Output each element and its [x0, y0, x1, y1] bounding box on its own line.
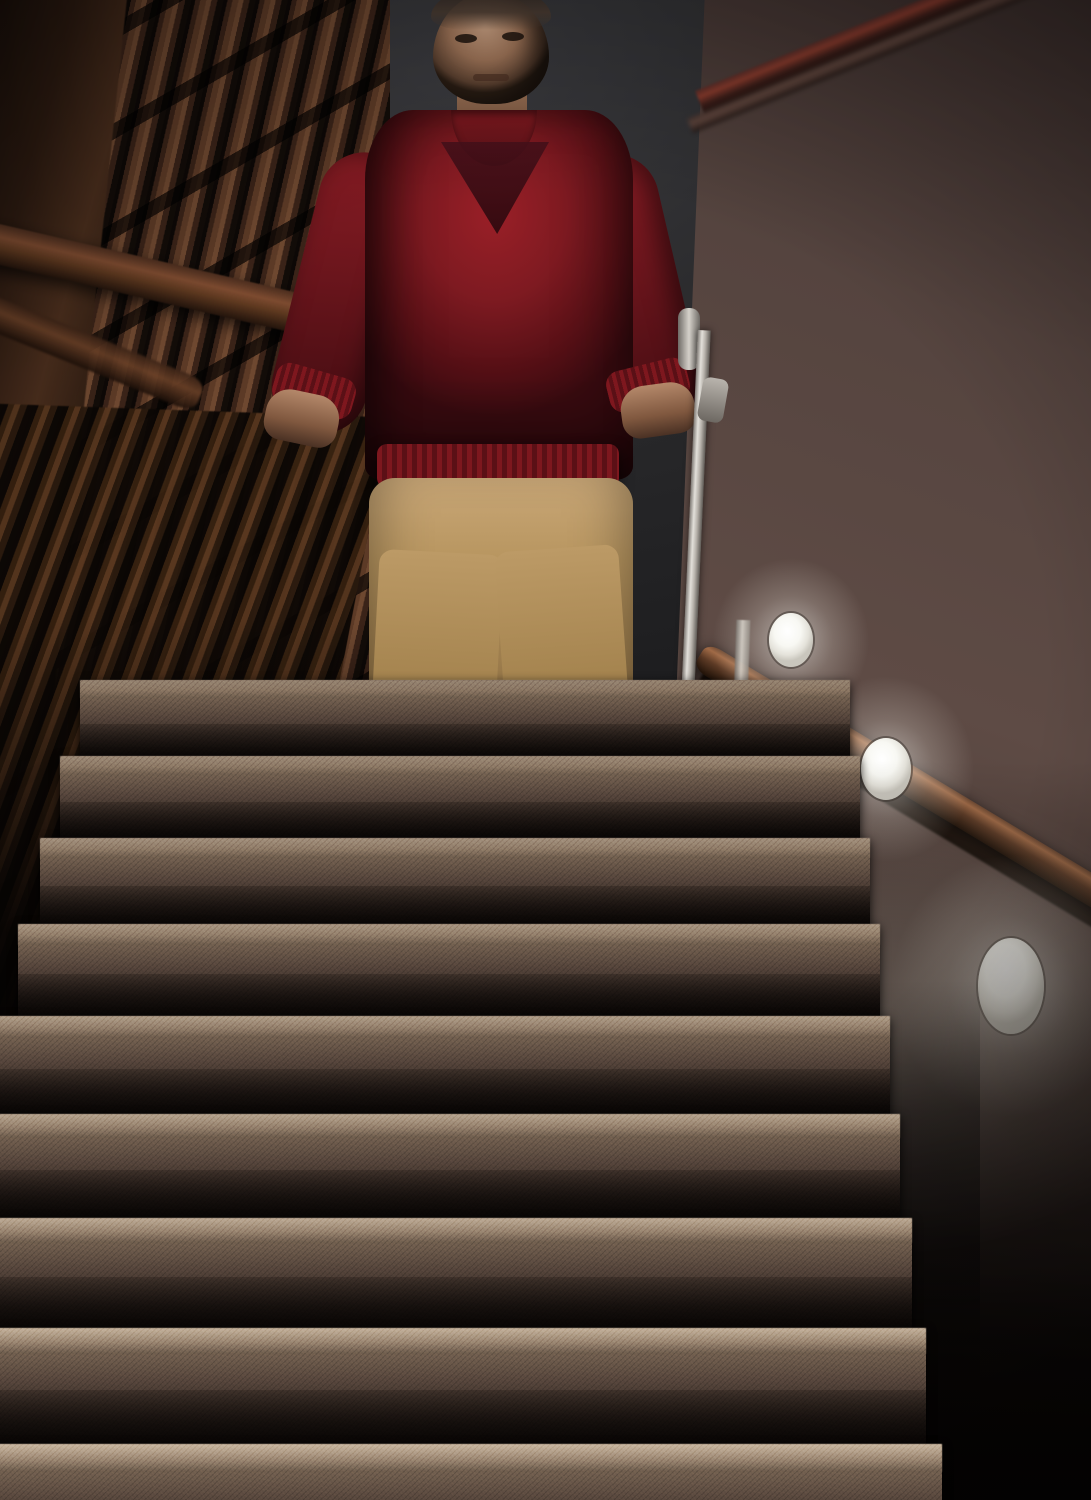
- step-nosing: [40, 838, 870, 858]
- step-riser: [18, 974, 880, 1020]
- mouth: [473, 74, 509, 81]
- step-riser: [0, 1069, 890, 1118]
- step-nosing: [80, 680, 850, 698]
- step-nosing: [0, 1016, 890, 1038]
- light-lens: [769, 613, 813, 667]
- step-nosing: [0, 1218, 912, 1243]
- stair-step: [0, 1218, 912, 1332]
- marketing-banner: Excellent Sensor Sensitivity Suitable fo…: [0, 0, 1091, 1500]
- step-nosing: [0, 1444, 942, 1472]
- step-riser: [0, 1390, 926, 1448]
- step-nosing: [60, 756, 860, 775]
- step-nosing: [0, 1328, 926, 1354]
- stair-step: [40, 838, 870, 930]
- step-nosing: [18, 924, 880, 945]
- hair: [431, 0, 551, 30]
- stair-step: [80, 680, 850, 764]
- stair-step: [18, 924, 880, 1020]
- left-eye: [455, 34, 477, 43]
- stair-step: [0, 1444, 942, 1500]
- stair-step: [0, 1114, 900, 1222]
- stair-step: [60, 756, 860, 844]
- stair-treads: [0, 560, 960, 1500]
- stair-step: [0, 1016, 890, 1118]
- stair-step: [0, 1328, 926, 1448]
- right-eye: [502, 32, 524, 41]
- step-riser: [0, 1170, 900, 1222]
- wall-light-top: [769, 613, 813, 667]
- step-nosing: [0, 1114, 900, 1138]
- step-riser: [0, 1277, 912, 1332]
